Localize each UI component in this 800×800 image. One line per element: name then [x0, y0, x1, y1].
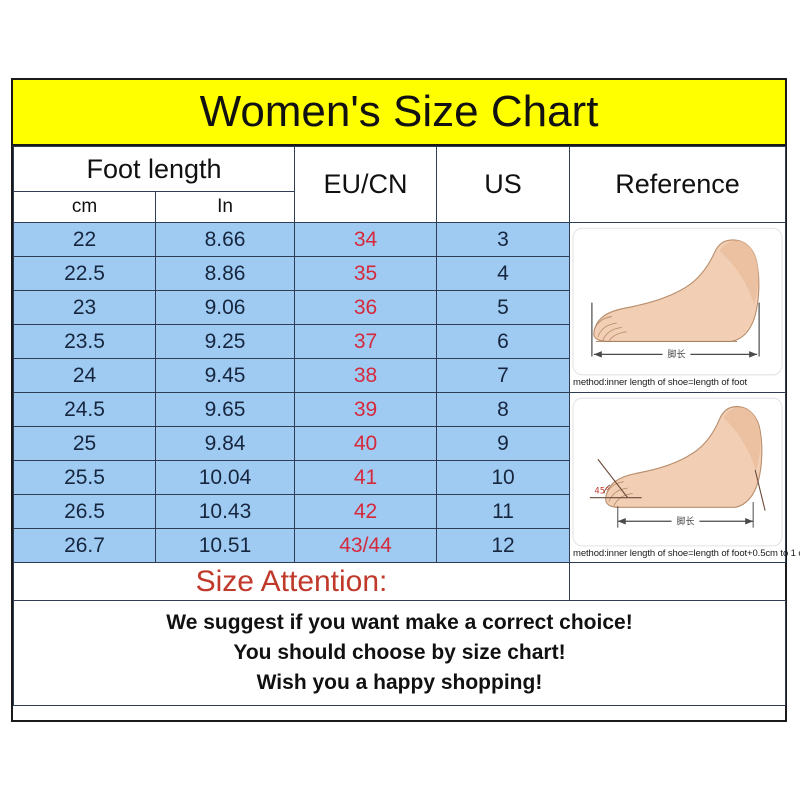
cell-us: 3 — [437, 223, 570, 257]
note-line: Wish you a happy shopping! — [257, 671, 543, 695]
svg-text:脚长: 脚长 — [677, 515, 695, 527]
size-attention-heading: Size Attention: — [196, 565, 388, 598]
page-title: Women's Size Chart — [200, 90, 599, 134]
cell-in: 8.66 — [156, 223, 295, 257]
cell-in: 9.84 — [156, 427, 295, 461]
cell-us: 11 — [437, 495, 570, 529]
cell-eu-cn: 35 — [295, 257, 437, 291]
header-cm: cm — [14, 192, 156, 223]
cell-us: 8 — [437, 393, 570, 427]
cell-eu-cn: 37 — [295, 325, 437, 359]
cell-cm: 22.5 — [14, 257, 156, 291]
svg-text:脚长: 脚长 — [668, 348, 686, 360]
table-row: 24.5 9.65 39 8 — [14, 393, 786, 427]
reference-cell-bottom: 45° 脚长 — [570, 393, 786, 563]
size-chart-card: Women's Size Chart Foot length EU/CN US … — [11, 78, 787, 722]
cell-us: 6 — [437, 325, 570, 359]
header-eu-cn: EU/CN — [295, 147, 437, 223]
cell-cm: 23.5 — [14, 325, 156, 359]
cell-us: 5 — [437, 291, 570, 325]
header-us: US — [437, 147, 570, 223]
cell-cm: 26.7 — [14, 529, 156, 563]
cell-cm: 24 — [14, 359, 156, 393]
cell-in: 10.04 — [156, 461, 295, 495]
reference-caption-bottom: method:inner length of shoe=length of fo… — [570, 549, 785, 561]
chart-title-bar: Women's Size Chart — [13, 80, 785, 146]
cell-eu-cn: 36 — [295, 291, 437, 325]
cell-in: 10.43 — [156, 495, 295, 529]
table-header-row-primary: Foot length EU/CN US Reference — [14, 147, 786, 192]
reference-cell-top: 脚长 method:inner length of shoe=length of… — [570, 223, 786, 393]
size-attention-heading-cell: Size Attention: — [14, 563, 570, 601]
cell-in: 10.51 — [156, 529, 295, 563]
cell-cm: 22 — [14, 223, 156, 257]
cell-cm: 25.5 — [14, 461, 156, 495]
foot-side-view-with-length-arrow-icon: 脚长 — [570, 225, 785, 378]
cell-us: 10 — [437, 461, 570, 495]
table-row: 22 8.66 34 3 — [14, 223, 786, 257]
cell-in: 9.25 — [156, 325, 295, 359]
cell-eu-cn: 42 — [295, 495, 437, 529]
cell-eu-cn: 43/44 — [295, 529, 437, 563]
cell-cm: 26.5 — [14, 495, 156, 529]
cell-eu-cn: 39 — [295, 393, 437, 427]
cell-cm: 25 — [14, 427, 156, 461]
note-line: You should choose by size chart! — [233, 641, 565, 665]
cell-eu-cn: 38 — [295, 359, 437, 393]
cell-us: 4 — [437, 257, 570, 291]
cell-eu-cn: 41 — [295, 461, 437, 495]
size-notes-row: We suggest if you want make a correct ch… — [14, 601, 786, 706]
header-reference: Reference — [570, 147, 786, 223]
size-notes-cell: We suggest if you want make a correct ch… — [14, 601, 786, 706]
cell-us: 7 — [437, 359, 570, 393]
cell-eu-cn: 34 — [295, 223, 437, 257]
svg-text:45°: 45° — [594, 486, 609, 496]
cell-eu-cn: 40 — [295, 427, 437, 461]
size-attention-row: Size Attention: — [14, 563, 786, 601]
size-chart-table: Foot length EU/CN US Reference cm In 22 … — [13, 146, 786, 706]
cell-cm: 24.5 — [14, 393, 156, 427]
cell-in: 9.06 — [156, 291, 295, 325]
header-foot-length: Foot length — [14, 147, 295, 192]
foot-side-view-with-angle-and-length-arrow-icon: 45° 脚长 — [570, 395, 785, 549]
cell-us: 12 — [437, 529, 570, 563]
cell-us: 9 — [437, 427, 570, 461]
cell-cm: 23 — [14, 291, 156, 325]
reference-caption-top: method:inner length of shoe=length of fo… — [570, 378, 785, 390]
header-in: In — [156, 192, 295, 223]
cell-in: 8.86 — [156, 257, 295, 291]
note-line: We suggest if you want make a correct ch… — [166, 611, 632, 635]
cell-in: 9.65 — [156, 393, 295, 427]
cell-in: 9.45 — [156, 359, 295, 393]
